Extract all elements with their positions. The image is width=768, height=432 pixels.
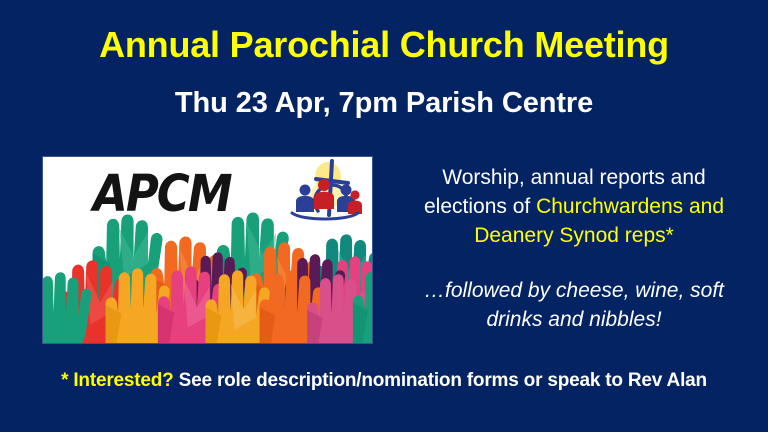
footer-highlight: * Interested? [61, 370, 174, 391]
agenda-line-2-white: elections of [424, 195, 536, 218]
refreshments-line-2: drinks and nibbles! [486, 308, 661, 331]
agenda-line-1: Worship, annual reports and [442, 166, 705, 189]
page-title: Annual Parochial Church Meeting [0, 23, 768, 67]
refreshments-text: …followed by cheese, wine, soft drinks a… [388, 276, 760, 334]
footer-note: * Interested? See role description/nomin… [0, 368, 768, 394]
slide-canvas: Annual Parochial Church Meeting Thu 23 A… [0, 0, 768, 432]
raised-hands-illustration [43, 211, 372, 343]
footer-rest: See role description/nomination forms or… [174, 370, 707, 391]
refreshments-line-1: …followed by cheese, wine, soft [424, 279, 724, 302]
agenda-line-2-highlight: Churchwardens and [536, 195, 724, 218]
page-subtitle: Thu 23 Apr, 7pm Parish Centre [0, 84, 768, 122]
apcm-image-card: APCM [43, 157, 372, 343]
meeting-agenda-text: Worship, annual reports and elections of… [388, 163, 760, 250]
agenda-line-3-highlight: Deanery Synod reps* [474, 224, 674, 247]
